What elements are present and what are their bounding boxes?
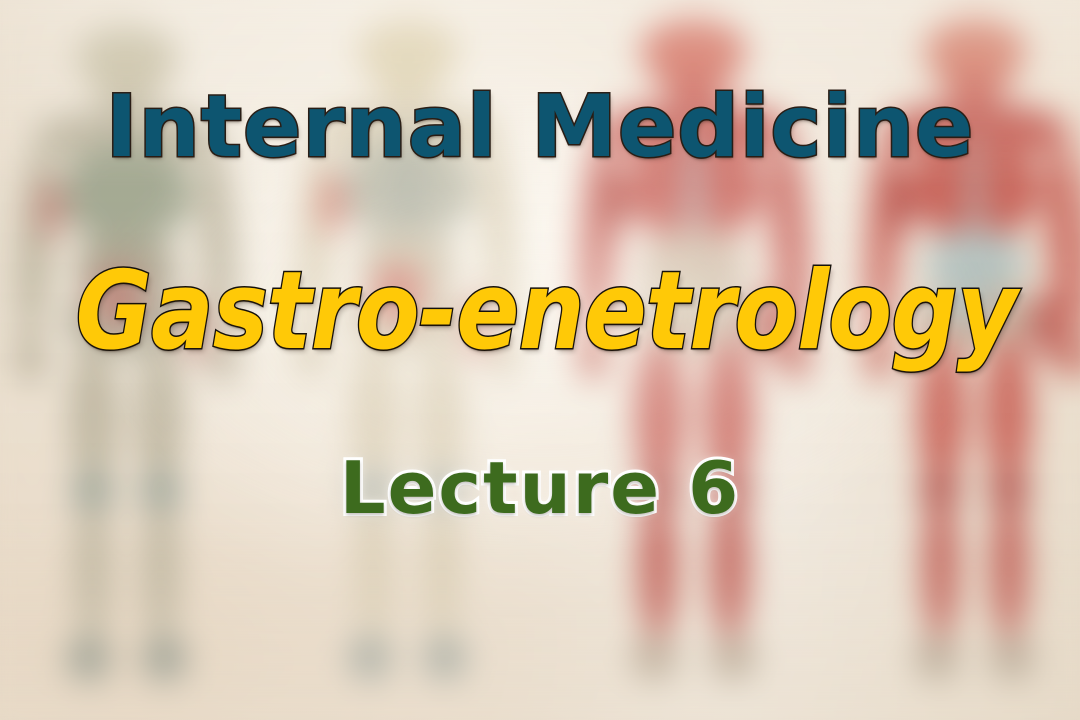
- course-title-word-medicine: Medicine: [531, 77, 974, 177]
- title-text-layer: InternalMedicine Gastro-enetrology Lectu…: [0, 0, 1080, 720]
- course-subject: Gastro-enetrology: [76, 258, 1005, 366]
- lecture-number-label: Lecture 6: [0, 452, 1080, 524]
- course-title-word-internal: Internal: [106, 77, 498, 177]
- course-title: InternalMedicine: [0, 84, 1080, 170]
- lecture-title-slide: InternalMedicine Gastro-enetrology Lectu…: [0, 0, 1080, 720]
